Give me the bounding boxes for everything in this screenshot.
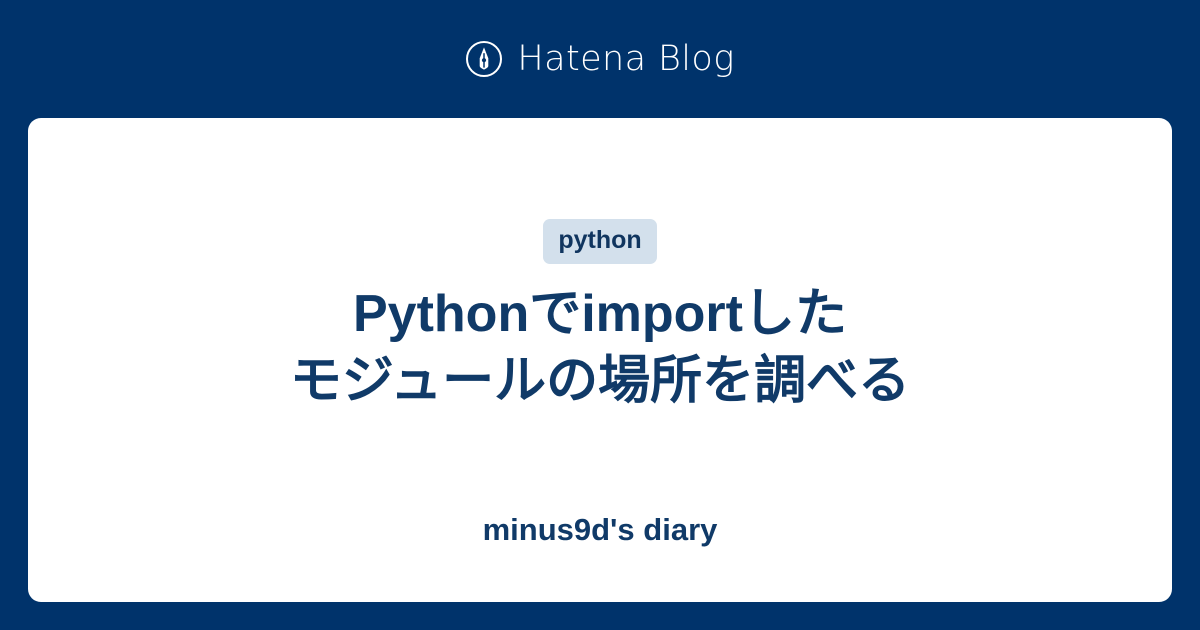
category-tag-row: python [28,219,1172,264]
fountain-pen-nib-circle-icon [465,40,503,78]
entry-title: Pythonでimportした モジュールの場所を調べる [68,281,1132,414]
brand-name-label: Hatena Blog [517,42,734,77]
hatena-blog-brand-header: Hatena Blog [0,0,1200,118]
entry-card-inner: python Pythonでimportした モジュールの場所を調べる minu… [28,118,1172,602]
category-tag-python[interactable]: python [543,219,656,264]
og-image-canvas: Hatena Blog python Pythonでimportした モジュール… [0,0,1200,630]
entry-title-line-2: モジュールの場所を調べる [68,348,1132,415]
entry-title-line-1: Pythonでimportした [68,281,1132,348]
blog-name: minus9d's diary [68,514,1132,545]
entry-card: python Pythonでimportした モジュールの場所を調べる minu… [28,118,1172,602]
